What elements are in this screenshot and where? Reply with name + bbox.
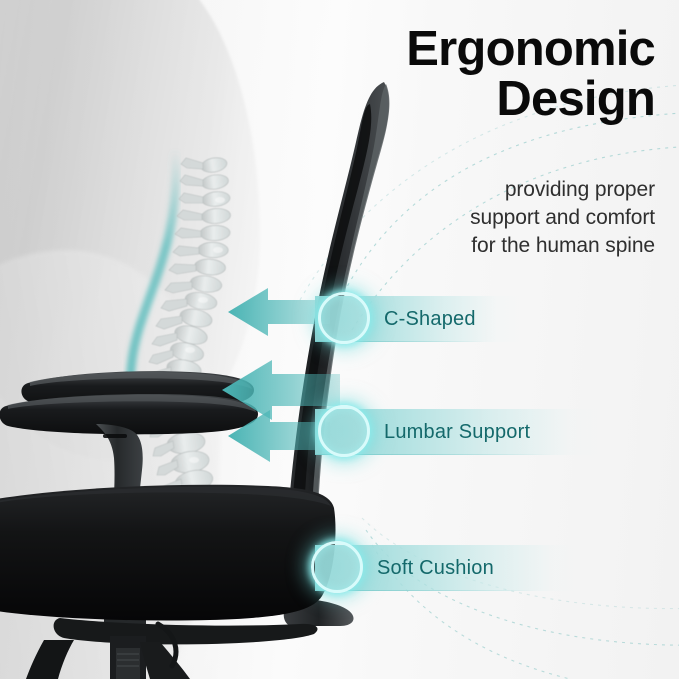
page-subtitle: providing proper support and comfort for… (285, 176, 655, 260)
callout-label: Lumbar Support (384, 421, 530, 444)
subtitle-line-1: providing proper (285, 176, 655, 204)
page-title: Ergonomic Design (235, 24, 655, 125)
callout-soft-cushion[interactable]: Soft Cushion (315, 545, 585, 591)
callout-label: C-Shaped (384, 308, 476, 331)
callout-c-shaped[interactable]: C-Shaped (315, 296, 522, 342)
callout-label: Soft Cushion (377, 557, 494, 580)
title-line-2: Design (235, 74, 655, 124)
subtitle-line-3: for the human spine (285, 232, 655, 260)
glow-ring-marker (311, 541, 363, 593)
callout-lumbar-support[interactable]: Lumbar Support (315, 409, 605, 455)
title-line-1: Ergonomic (235, 24, 655, 74)
infographic-canvas: C-Shaped Lumbar Support Soft Cushion Erg… (0, 0, 679, 679)
glow-ring-marker (318, 405, 370, 457)
glow-ring-marker (318, 292, 370, 344)
subtitle-line-2: support and comfort (285, 204, 655, 232)
